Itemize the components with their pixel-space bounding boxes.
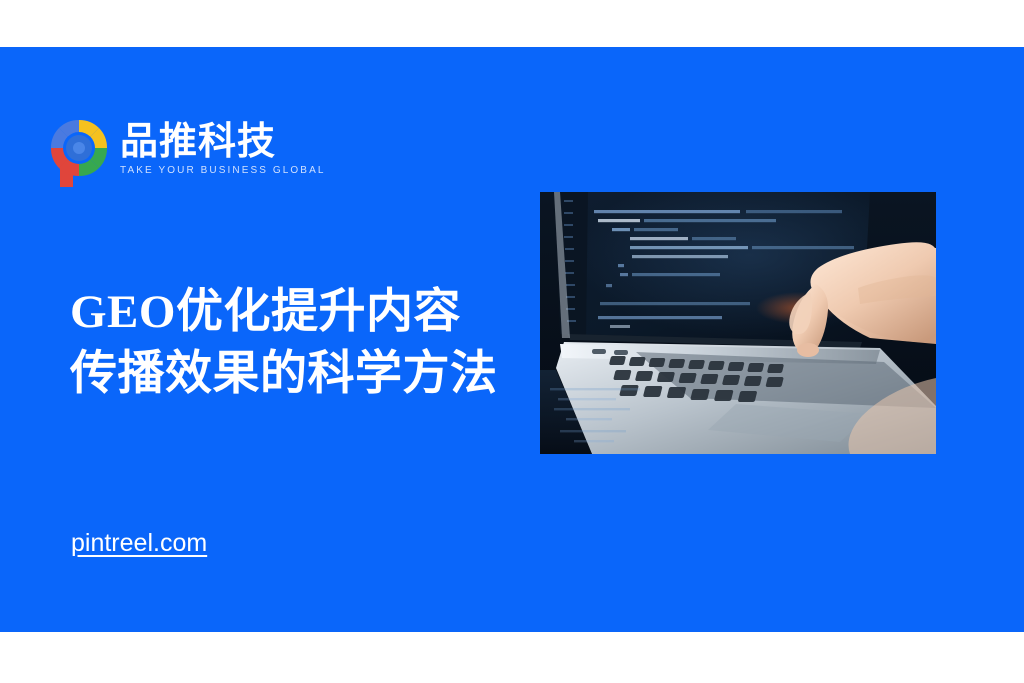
brand-logo-lockup[interactable]: 品推科技 TAKE YOUR BUSINESS GLOBAL xyxy=(48,117,326,187)
slide-canvas: 品推科技 TAKE YOUR BUSINESS GLOBAL GEO优化提升内容… xyxy=(0,0,1024,683)
pintreel-p-logo-icon xyxy=(48,117,110,187)
page-title-line-2: 传播效果的科学方法 xyxy=(70,343,540,405)
laptop-coding-photo xyxy=(540,192,936,454)
brand-tagline: TAKE YOUR BUSINESS GLOBAL xyxy=(120,164,326,178)
brand-name: 品推科技 xyxy=(120,121,326,163)
site-url-link[interactable]: pintreel.com xyxy=(71,527,207,559)
page-title-line-1: GEO优化提升内容 xyxy=(70,281,540,343)
page-title: GEO优化提升内容 传播效果的科学方法 xyxy=(70,281,540,405)
brand-text-block: 品推科技 TAKE YOUR BUSINESS GLOBAL xyxy=(120,117,326,178)
